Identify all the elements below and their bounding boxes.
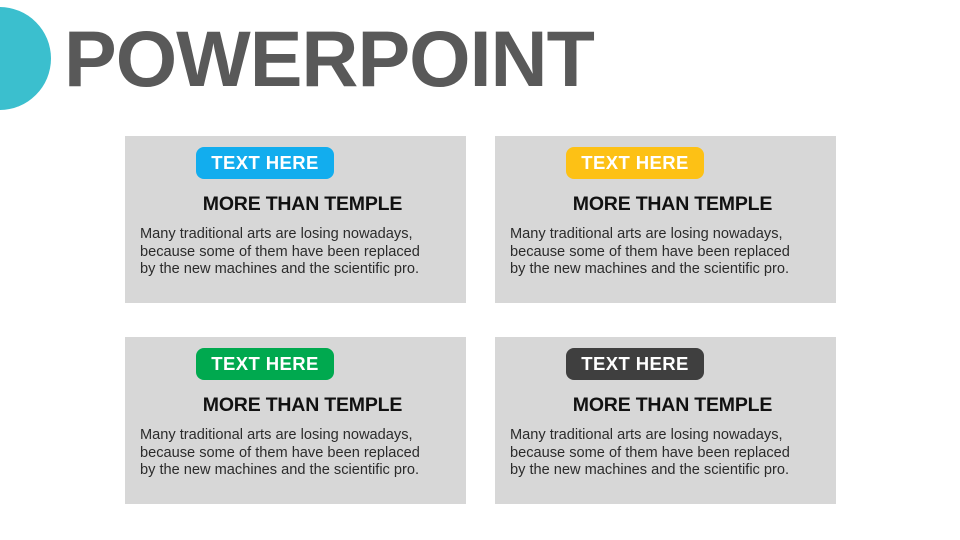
content-card[interactable]: TEXT HERE MORE THAN TEMPLE Many traditio… [495, 136, 836, 303]
card-heading: MORE THAN TEMPLE [125, 193, 466, 216]
card-body: Many traditional arts are losing nowaday… [510, 226, 830, 279]
card-body-line: Many traditional arts are losing nowaday… [140, 427, 460, 445]
card-grid: TEXT HERE MORE THAN TEMPLE Many traditio… [125, 136, 836, 504]
card-badge[interactable]: TEXT HERE [196, 147, 334, 179]
card-badge[interactable]: TEXT HERE [566, 147, 704, 179]
card-body-line: by the new machines and the scientific p… [140, 462, 460, 480]
card-body: Many traditional arts are losing nowaday… [140, 226, 460, 279]
card-heading: MORE THAN TEMPLE [125, 394, 466, 417]
card-badge[interactable]: TEXT HERE [196, 348, 334, 380]
content-card[interactable]: TEXT HERE MORE THAN TEMPLE Many traditio… [125, 136, 466, 303]
slide-canvas: POWERPOINT TEXT HERE MORE THAN TEMPLE Ma… [0, 0, 960, 540]
card-body-line: because some of them have been replaced [140, 244, 460, 262]
content-card[interactable]: TEXT HERE MORE THAN TEMPLE Many traditio… [125, 337, 466, 504]
card-heading: MORE THAN TEMPLE [495, 394, 836, 417]
page-title: POWERPOINT [64, 13, 594, 105]
card-body: Many traditional arts are losing nowaday… [140, 427, 460, 480]
accent-circle-decoration [0, 7, 51, 110]
card-heading: MORE THAN TEMPLE [495, 193, 836, 216]
card-body-line: by the new machines and the scientific p… [510, 261, 830, 279]
card-body-line: Many traditional arts are losing nowaday… [510, 226, 830, 244]
card-body-line: because some of them have been replaced [510, 445, 830, 463]
content-card[interactable]: TEXT HERE MORE THAN TEMPLE Many traditio… [495, 337, 836, 504]
card-body-line: because some of them have been replaced [140, 445, 460, 463]
card-body: Many traditional arts are losing nowaday… [510, 427, 830, 480]
card-badge[interactable]: TEXT HERE [566, 348, 704, 380]
card-body-line: Many traditional arts are losing nowaday… [140, 226, 460, 244]
card-body-line: by the new machines and the scientific p… [510, 462, 830, 480]
card-body-line: by the new machines and the scientific p… [140, 261, 460, 279]
card-body-line: Many traditional arts are losing nowaday… [510, 427, 830, 445]
card-body-line: because some of them have been replaced [510, 244, 830, 262]
